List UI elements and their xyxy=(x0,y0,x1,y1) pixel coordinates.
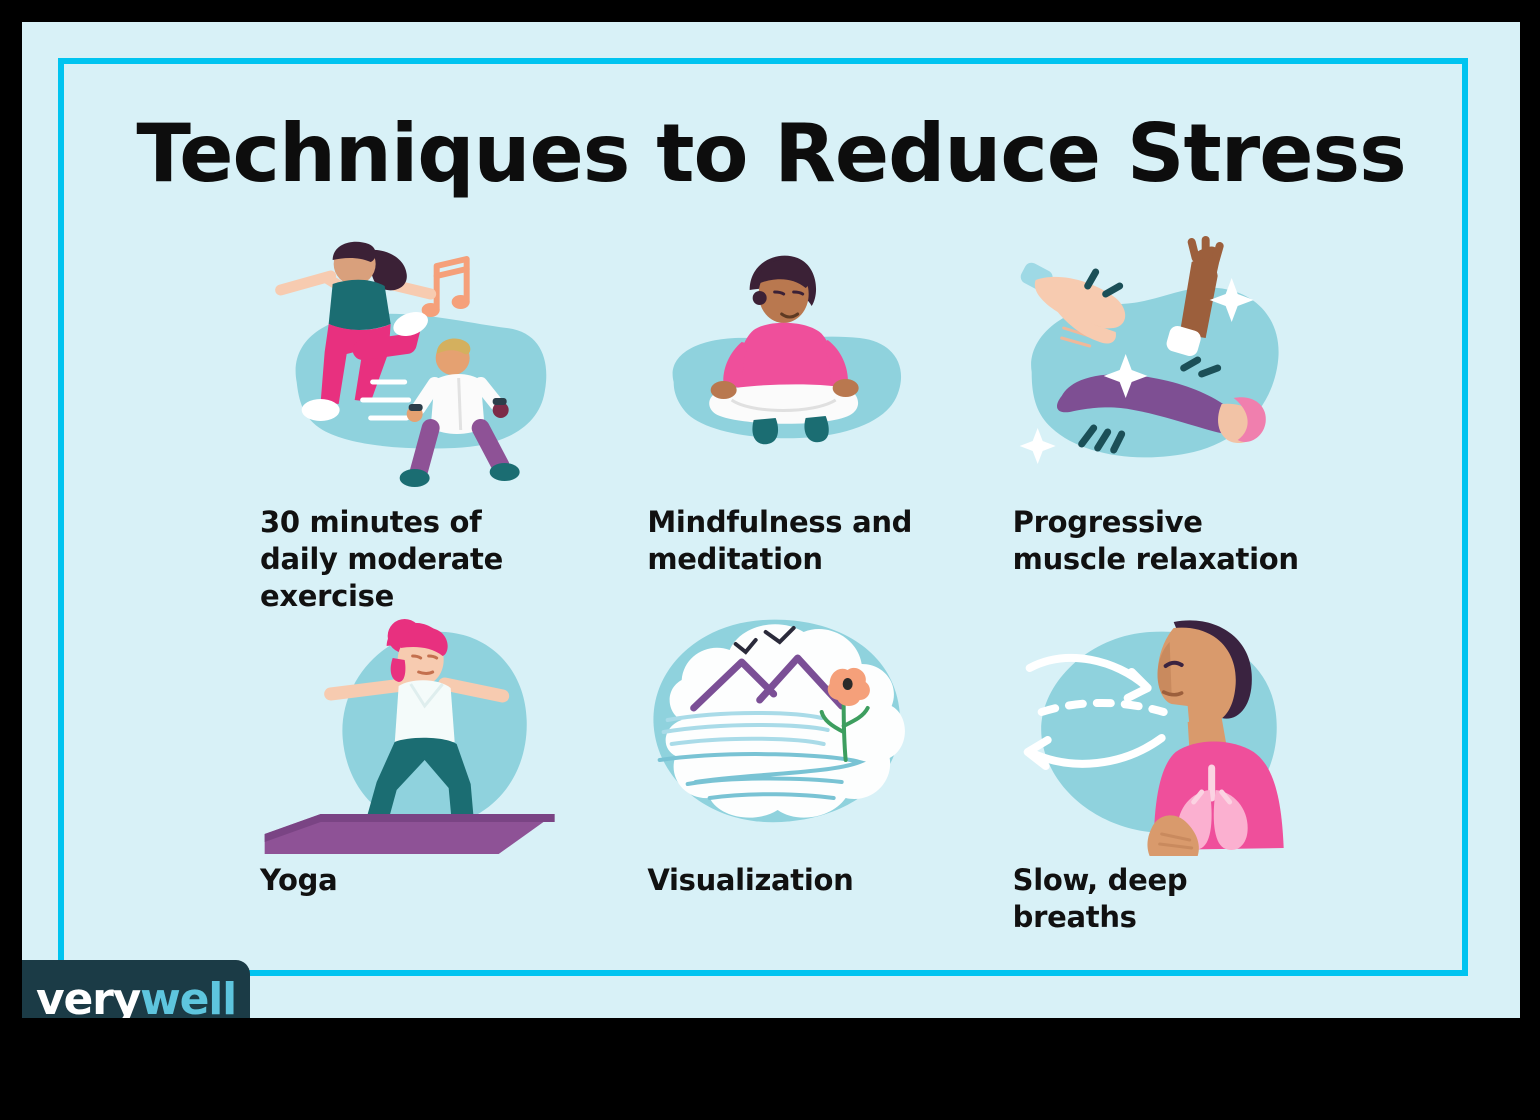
infographic-card: Techniques to Reduce Stress xyxy=(22,22,1520,1018)
technique-caption-muscle-relaxation: Progressive muscle relaxation xyxy=(1013,504,1313,578)
cloud-landscape-icon xyxy=(595,602,968,864)
technique-card-muscle-relaxation: Progressive muscle relaxation xyxy=(969,232,1342,602)
people-exercising-icon xyxy=(222,232,595,494)
technique-card-mindfulness: Mindfulness and meditation xyxy=(595,232,968,602)
verywell-logo[interactable]: verywell xyxy=(22,960,250,1018)
technique-card-deep-breathing: Slow, deep breaths xyxy=(969,602,1342,952)
technique-card-exercise: 30 minutes of daily moderate exercise xyxy=(222,232,595,602)
techniques-grid: 30 minutes of daily moderate exercise xyxy=(222,232,1342,952)
technique-caption-deep-breathing: Slow, deep breaths xyxy=(1013,862,1313,936)
technique-card-visualization: Visualization xyxy=(595,602,968,952)
technique-card-yoga: Yoga xyxy=(222,602,595,952)
breathing-lungs-icon xyxy=(969,602,1342,864)
technique-caption-mindfulness: Mindfulness and meditation xyxy=(647,504,947,578)
technique-caption-visualization: Visualization xyxy=(647,862,947,899)
logo-text-well: well xyxy=(140,974,236,1019)
infographic-stage: Techniques to Reduce Stress xyxy=(0,0,1540,1120)
technique-caption-yoga: Yoga xyxy=(260,862,560,899)
logo-text-very: very xyxy=(36,974,140,1019)
technique-caption-exercise: 30 minutes of daily moderate exercise xyxy=(260,504,560,615)
warrior-pose-icon xyxy=(222,602,595,864)
stretching-limbs-icon xyxy=(969,232,1342,494)
seated-meditation-icon xyxy=(595,232,968,494)
page-title: Techniques to Reduce Stress xyxy=(22,114,1520,194)
